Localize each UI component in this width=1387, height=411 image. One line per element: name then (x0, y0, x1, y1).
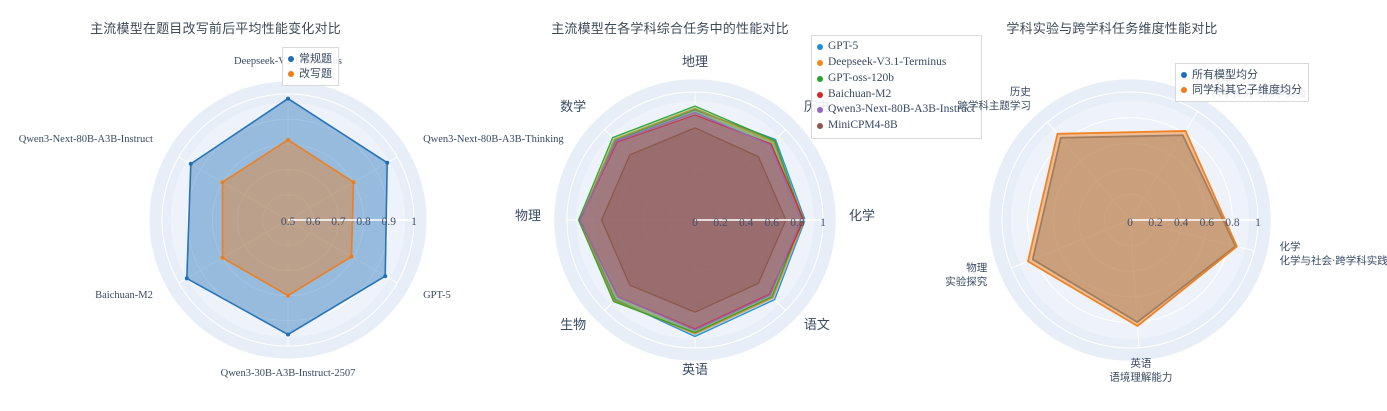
axis-category-label-line: 物理 (966, 261, 987, 274)
series-point (286, 333, 290, 337)
series-point (349, 255, 353, 259)
legend-marker-dot (817, 44, 823, 50)
radial-tick-label: 0.6 (306, 216, 321, 228)
axis-category-label-line: 物理 (515, 209, 541, 224)
radial-tick-label: 0.9 (382, 216, 397, 228)
legend-marker-dot (288, 71, 294, 77)
axis-category-label: 生物 (560, 318, 586, 333)
series-point (189, 162, 193, 166)
legend-item-label: GPT-5 (828, 39, 858, 55)
legend-item-label: 同学科其它子维度均分 (1192, 82, 1302, 97)
radial-tick-label: 1 (1255, 217, 1261, 229)
radial-tick-label: 0 (692, 217, 698, 229)
axis-category-label: 物理实验探究 (945, 261, 987, 288)
legend-item-label: MiniCPM4-8B (828, 118, 898, 134)
axis-category-label-line: Qwen3-30B-A3B-Instruct-2507 (221, 368, 356, 379)
radial-tick-label: 0.4 (739, 217, 754, 229)
radar-chart-panel-3: 学科实验与跨学科任务维度性能对比 00.20.40.60.81化学科学探究与化学… (925, 0, 1387, 411)
radial-tick-label: 0.2 (1148, 217, 1163, 229)
axis-category-label-line: 数学 (560, 99, 586, 115)
radar-chart-panel-2: 主流模型在各学科综合任务中的性能对比 00.20.40.60.81地理历史化学语… (463, 0, 925, 411)
series-point (286, 97, 290, 101)
radar-chart-3[interactable]: 00.20.40.60.81化学科学探究与化学实验化学化学与社会·跨学科实践英语… (925, 0, 1387, 411)
radial-tick-label: 0.4 (1174, 217, 1189, 229)
axis-category-label-line: 跨学科主题学习 (957, 99, 1031, 112)
series-point (286, 294, 290, 298)
radial-tick-label: 0.6 (765, 217, 780, 229)
axis-category-label: 数学 (560, 99, 586, 115)
axis-category-label-line: GPT-5 (423, 290, 451, 301)
axis-category-label: 地理 (682, 55, 708, 70)
axis-category-label: GPT-5 (423, 290, 451, 301)
axis-category-label-line: 化学 (1279, 240, 1300, 253)
legend-item-label: 改写题 (299, 66, 332, 81)
axis-category-label-line: 语境理解能力 (1109, 371, 1172, 384)
axis-category-label-line: 英语 (682, 363, 708, 378)
radar-chart-panel-1: 主流模型在题目改写前后平均性能变化对比 0.50.60.70.80.91Deep… (0, 0, 463, 411)
radial-tick-label: 0.8 (790, 217, 805, 229)
legend-marker-dot (817, 123, 823, 129)
legend-marker-dot (1181, 87, 1187, 93)
legend-marker-dot (817, 107, 823, 113)
legend-item-label: Baichuan-M2 (828, 87, 891, 103)
series-point (221, 256, 225, 260)
series-point (221, 180, 225, 184)
radial-tick-label: 0.7 (331, 216, 346, 228)
series-point (286, 138, 290, 142)
axis-category-label: 物理 (515, 209, 541, 224)
radial-tick-label: 0.8 (1225, 217, 1240, 229)
legend-item[interactable]: 改写题 (288, 66, 332, 81)
axis-category-label: 化学 (849, 208, 875, 224)
series-point (185, 276, 189, 280)
legend-item[interactable]: 常规题 (288, 51, 332, 66)
legend-item-label: GPT-oss-120b (828, 71, 894, 87)
axis-category-label: 语文 (804, 318, 830, 333)
radar-chart-1[interactable]: 0.50.60.70.80.91Deepseek-V3.1-TerminusQw… (0, 0, 463, 411)
radial-tick-label: 0 (1127, 217, 1133, 229)
axis-category-label: Qwen3-Next-80B-A3B-Instruct (19, 134, 153, 145)
legend-chart-1[interactable]: 常规题改写题 (282, 47, 339, 86)
radial-tick-label: 1 (411, 216, 417, 228)
radial-tick-label: 1 (820, 217, 826, 229)
axis-category-label-line: 历史 (1010, 86, 1032, 98)
legend-chart-3[interactable]: 所有模型均分同学科其它子维度均分 (1175, 63, 1309, 102)
axis-category-label: Baichuan-M2 (95, 290, 153, 301)
axis-category-label-line: Qwen3-Next-80B-A3B-Instruct (19, 134, 153, 145)
legend-item-label: 常规题 (299, 51, 332, 66)
axis-category-label-line: 地理 (682, 55, 708, 70)
axis-category-label-line: 化学 (849, 208, 875, 224)
legend-marker-dot (817, 60, 823, 66)
legend-marker-dot (817, 76, 823, 82)
axis-category-label: 历史跨学科主题学习 (957, 86, 1031, 112)
axis-category-label: 化学化学与社会·跨学科实践 (1279, 240, 1387, 267)
radial-tick-label: 0.6 (1200, 217, 1215, 229)
axis-category-label: 英语语境理解能力 (1109, 357, 1172, 384)
radial-tick-label: 0.5 (281, 216, 296, 228)
axis-category-label-line: 英语 (1130, 357, 1151, 370)
axis-category-label: 英语 (682, 363, 708, 378)
axis-category-label-line: 语文 (804, 318, 830, 333)
legend-marker-dot (817, 92, 823, 98)
legend-item-label: 所有模型均分 (1192, 67, 1258, 82)
axis-category-label-line: 生物 (560, 318, 586, 333)
legend-item[interactable]: 同学科其它子维度均分 (1181, 82, 1302, 97)
axis-category-label-line: 实验探究 (945, 275, 987, 288)
legend-marker-dot (1181, 72, 1187, 78)
radial-tick-label: 0.8 (356, 216, 371, 228)
legend-item[interactable]: 所有模型均分 (1181, 67, 1302, 82)
axis-category-label: Qwen3-30B-A3B-Instruct-2507 (221, 368, 356, 379)
series-point (383, 274, 387, 278)
series-point (351, 180, 355, 184)
legend-marker-dot (288, 56, 294, 62)
axis-category-label-line: 化学与社会·跨学科实践 (1279, 254, 1387, 267)
radial-tick-label: 0.2 (713, 217, 728, 229)
series-point (385, 161, 389, 165)
axis-category-label-line: Baichuan-M2 (95, 290, 153, 301)
